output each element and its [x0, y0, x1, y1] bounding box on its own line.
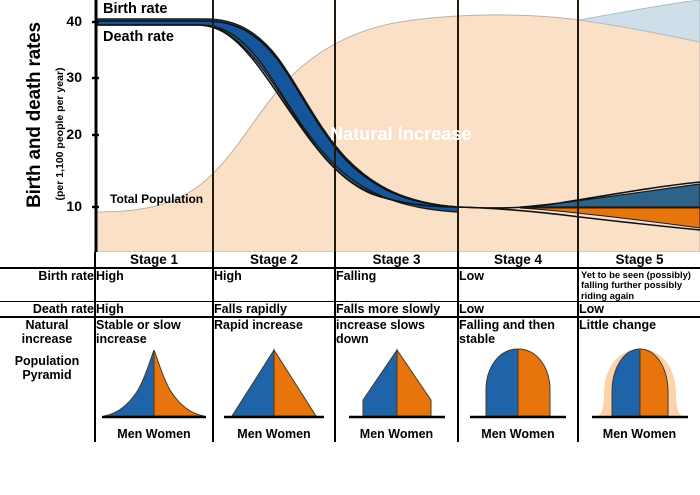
birth-rate-stage-3: Falling	[335, 268, 458, 302]
birth-rate-stage-5-note: Yet to be seen (possibly) falling furthe…	[579, 269, 700, 301]
row-label-population-pyramid-line2: Pyramid	[0, 368, 94, 382]
population-pyramid-stage-5	[584, 346, 696, 424]
pyramid-cell-stage-3: Men Women	[335, 346, 458, 442]
pyramid-cell-stage-2: Men Women	[213, 346, 335, 442]
birth-rate-stage-5: Yet to be seen (possibly) falling furthe…	[578, 268, 700, 302]
natural-increase-stage-4: Falling and then stable	[458, 317, 578, 346]
death-rate-stage-5: Low	[578, 302, 700, 318]
row-label-death-rate: Death rate	[0, 302, 95, 318]
pyramid-cell-stage-5: Men Women	[578, 346, 700, 442]
birth-rate-label: Birth rate	[103, 1, 167, 17]
stage-header-1: Stage 1	[95, 252, 213, 268]
pyramid-caption-stage-4: Men Women	[459, 427, 577, 441]
pyramid-women-stage-4	[518, 349, 550, 416]
pyramid-caption-stage-5: Men Women	[579, 427, 700, 441]
pyramid-caption-stage-3: Men Women	[336, 427, 457, 441]
pyramid-cell-stage-4: Men Women	[458, 346, 578, 442]
y-tick-label-30: 30	[42, 69, 82, 85]
stage-comparison-table: Stage 1 Stage 2 Stage 3 Stage 4 Stage 5 …	[0, 252, 700, 495]
pyramid-women-stage-1	[154, 350, 204, 416]
row-label-natural-increase-line2: increase	[0, 332, 94, 346]
death-rate-stage-2: Falls rapidly	[213, 302, 335, 318]
pyramid-women-stage-3	[397, 350, 431, 416]
table-row-birth-rate: Birth rate High High Falling Low Yet to …	[0, 268, 700, 302]
row-label-birth-rate: Birth rate	[0, 268, 95, 302]
chart-panel: Birth and death rates (per 1,100 people …	[0, 0, 700, 252]
population-pyramid-stage-2	[218, 346, 330, 424]
death-rate-stage-4: Low	[458, 302, 578, 318]
stage-header-5: Stage 5	[578, 252, 700, 268]
header-row-spacer	[0, 252, 95, 268]
birth-rate-stage-4: Low	[458, 268, 578, 302]
stage-header-2-label: Stage 2	[214, 252, 334, 267]
birth-rate-stage-2: High	[213, 268, 335, 302]
stage-header-3-label: Stage 3	[336, 252, 457, 267]
stage-header-4: Stage 4	[458, 252, 578, 268]
natural-increase-stage-3: increase slows down	[335, 317, 458, 346]
natural-increase-stage-5: Little change	[578, 317, 700, 346]
birth-rate-stage-1: High	[95, 268, 213, 302]
pyramid-caption-stage-1: Men Women	[96, 427, 212, 441]
pyramid-women-stage-2	[274, 350, 316, 416]
pyramid-men-stage-2	[232, 350, 274, 416]
stage-header-4-label: Stage 4	[459, 252, 577, 267]
table-row-stage-headers: Stage 1 Stage 2 Stage 3 Stage 4 Stage 5	[0, 252, 700, 268]
stage-header-1-label: Stage 1	[96, 252, 212, 267]
population-pyramid-stage-4	[462, 346, 574, 424]
y-tick-label-10: 10	[42, 198, 82, 214]
table-row-natural-increase: Natural increase Stable or slow increase…	[0, 317, 700, 346]
table-row-death-rate: Death rate High Falls rapidly Falls more…	[0, 302, 700, 318]
pyramid-men-stage-1	[104, 350, 154, 416]
row-label-population-pyramid-line1: Population	[0, 354, 94, 368]
pyramid-men-stage-4	[486, 349, 518, 416]
pyramid-men-stage-3	[363, 350, 397, 416]
total-population-label: Total Population	[110, 192, 203, 206]
row-label-population-pyramid: Population Pyramid	[0, 346, 95, 442]
row-label-natural-increase-line1: Natural	[0, 318, 94, 332]
table-row-population-pyramid: Population Pyramid Men Women	[0, 346, 700, 442]
y-tick-label-20: 20	[42, 126, 82, 142]
death-rate-stage-3: Falls more slowly	[335, 302, 458, 318]
stage-header-2: Stage 2	[213, 252, 335, 268]
population-pyramid-stage-1	[98, 346, 210, 424]
natural-increase-stage-2: Rapid increase	[213, 317, 335, 346]
natural-increase-stage-1: Stable or slow increase	[95, 317, 213, 346]
death-rate-stage-1: High	[95, 302, 213, 318]
stage-header-5-label: Stage 5	[579, 252, 700, 267]
pyramid-caption-stage-2: Men Women	[214, 427, 334, 441]
y-tick-label-40: 40	[42, 13, 82, 29]
pyramid-cell-stage-1: Men Women	[95, 346, 213, 442]
y-axis-title: Birth and death rates	[24, 0, 46, 230]
population-pyramid-stage-3	[341, 346, 453, 424]
death-rate-label: Death rate	[103, 29, 174, 45]
stage-header-3: Stage 3	[335, 252, 458, 268]
natural-increase-label: Natural Increase	[330, 124, 472, 145]
row-label-natural-increase: Natural increase	[0, 317, 95, 346]
